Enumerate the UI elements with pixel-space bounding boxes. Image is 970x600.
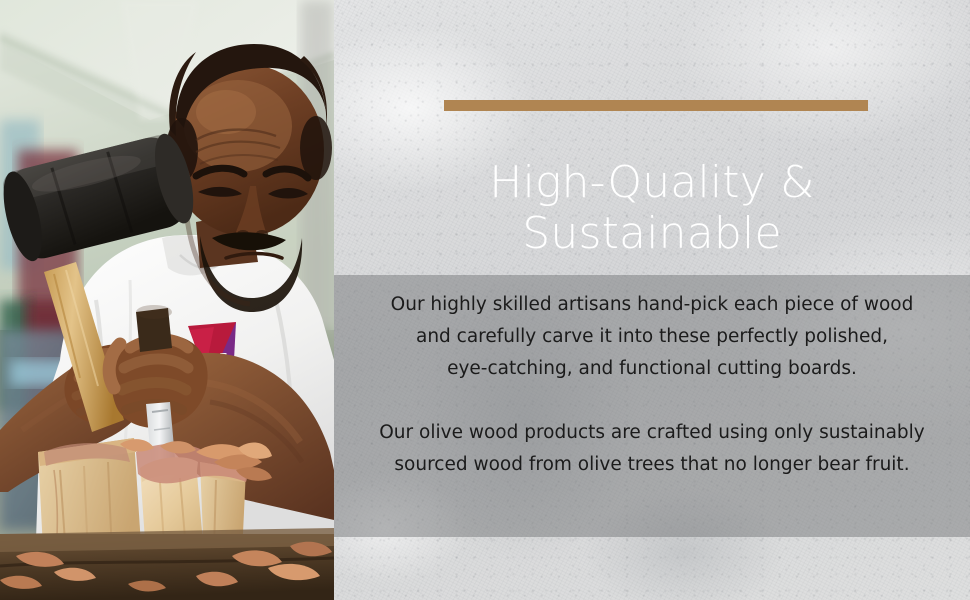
paragraph-artisans: Our highly skilled artisans hand-pick ea… — [334, 289, 970, 385]
artisan-carving-illustration: M — [0, 0, 334, 600]
content-panel: High-Quality & Sustainable Our highly sk… — [334, 0, 970, 600]
body-copy-block: Our highly skilled artisans hand-pick ea… — [334, 275, 970, 537]
page-title: High-Quality & Sustainable — [334, 157, 970, 259]
gold-divider-rule — [444, 100, 868, 111]
product-feature-banner: M — [0, 0, 970, 600]
paragraph-spacer — [334, 385, 970, 417]
paragraph-sustainability: Our olive wood products are crafted usin… — [334, 417, 970, 481]
artisan-photo: M — [0, 0, 334, 600]
